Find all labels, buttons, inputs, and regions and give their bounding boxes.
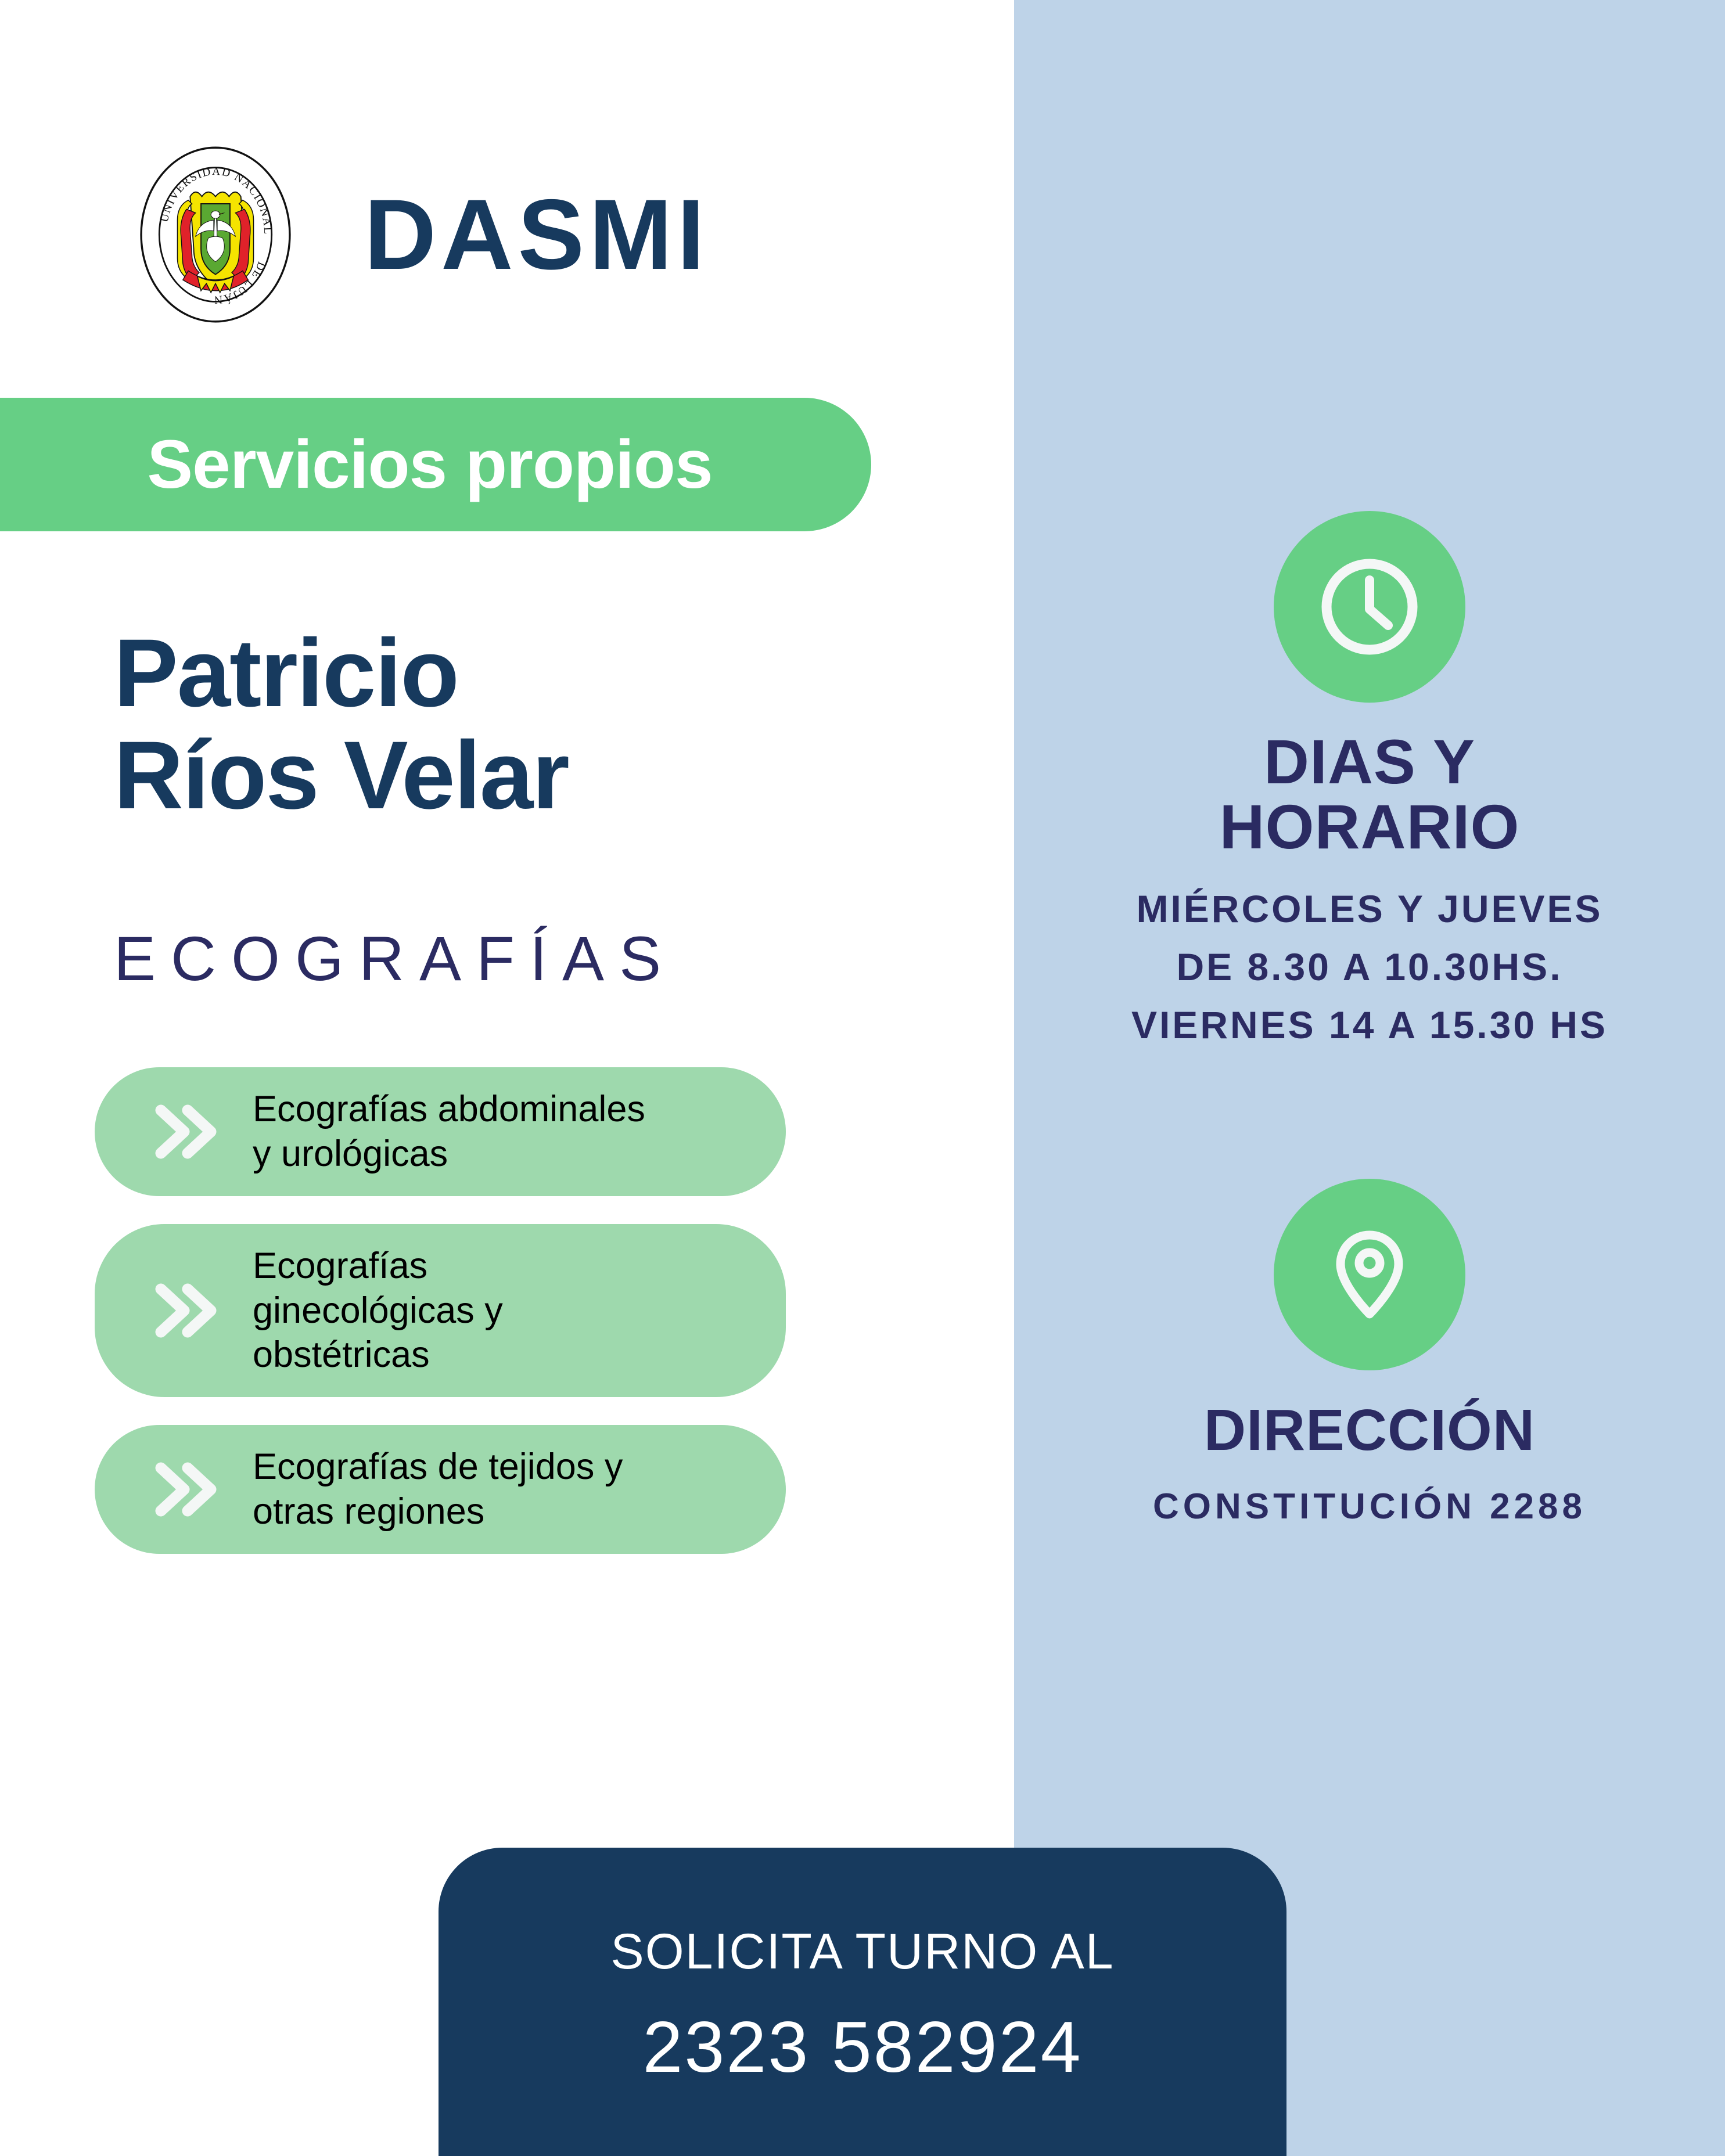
schedule-line: MIÉRCOLES Y JUEVES: [1014, 880, 1725, 938]
provider-name: Patricio Ríos Velar: [114, 622, 927, 827]
service-item: Ecografías abdominales y urológicas: [95, 1067, 786, 1196]
clock-icon: [1274, 511, 1465, 703]
address-line: 2288: [1490, 1486, 1586, 1527]
service-label: Ecografías ginecológicas y obstétricas: [253, 1244, 503, 1378]
cta-phone-number[interactable]: 2323 582924: [439, 2006, 1286, 2089]
poster-canvas: UNIVERSIDAD NACIONAL DE LUJÁN: [0, 0, 1725, 2156]
double-chevron-right-icon: [150, 1279, 220, 1342]
service-item: Ecografías ginecológicas y obstétricas: [95, 1224, 786, 1398]
provider-first-name: Patricio: [114, 622, 927, 725]
provider-last-name: Ríos Velar: [114, 725, 927, 827]
schedule-lines: MIÉRCOLES Y JUEVES DE 8.30 A 10.30HS. VI…: [1014, 880, 1725, 1054]
right-blue-panel: [1014, 0, 1725, 2156]
banner-label: Servicios propios: [0, 398, 871, 531]
schedule-block: DIAS Y HORARIO MIÉRCOLES Y JUEVES DE 8.3…: [1014, 511, 1725, 1054]
schedule-title: DIAS Y HORARIO: [1014, 729, 1725, 860]
double-chevron-right-icon: [150, 1457, 220, 1521]
location-pin-icon: [1274, 1179, 1465, 1370]
cta-panel: SOLICITA TURNO AL 2323 582924: [439, 1848, 1286, 2156]
services-list: Ecografías abdominales y urológicas Ecog…: [95, 1067, 826, 1582]
service-label: Ecografías de tejidos y otras regiones: [253, 1445, 623, 1534]
address-title: DIRECCIÓN: [1014, 1397, 1725, 1464]
double-chevron-right-icon: [150, 1100, 220, 1164]
schedule-line: VIERNES 14 A 15.30 HS: [1014, 996, 1725, 1054]
provider-specialty: ECOGRAFÍAS: [114, 922, 676, 995]
universidad-nacional-de-lujan-seal-icon: UNIVERSIDAD NACIONAL DE LUJÁN: [125, 144, 306, 325]
schedule-line: DE 8.30 A 10.30HS.: [1014, 938, 1725, 996]
address-lines: CONSTITUCIÓN 2288: [1014, 1480, 1725, 1534]
brand-header: UNIVERSIDAD NACIONAL DE LUJÁN: [125, 144, 709, 325]
service-item: Ecografías de tejidos y otras regiones: [95, 1425, 786, 1554]
brand-title: DASMI: [364, 185, 709, 285]
cta-label: SOLICITA TURNO AL: [439, 1923, 1286, 1981]
service-label: Ecografías abdominales y urológicas: [253, 1087, 645, 1176]
address-block: DIRECCIÓN CONSTITUCIÓN 2288: [1014, 1179, 1725, 1534]
servicios-propios-banner: Servicios propios: [0, 398, 871, 531]
address-line: CONSTITUCIÓN: [1153, 1486, 1476, 1527]
